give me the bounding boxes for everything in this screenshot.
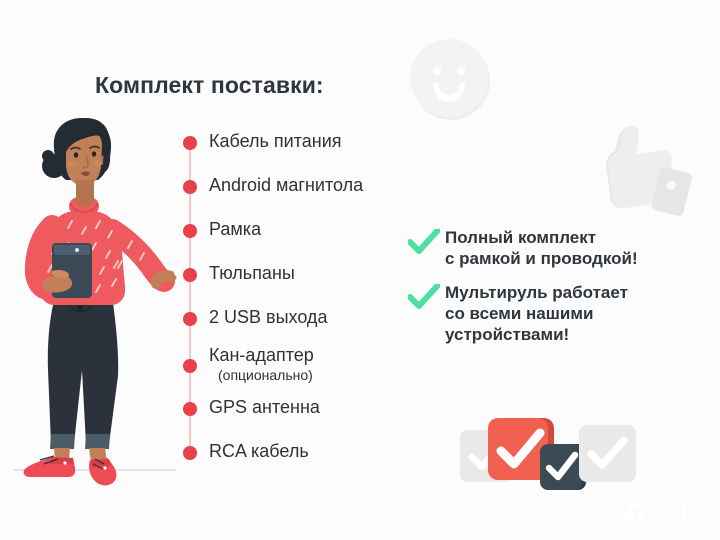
green-check-icon [408, 284, 440, 311]
feature-claims: Полный комплект с рамкой и проводкой! Му… [408, 227, 708, 358]
list-item-label: 2 USB выхода [209, 307, 327, 328]
bullet-dot [183, 446, 197, 460]
bullet-dot [183, 359, 197, 373]
thumbs-up-icon [578, 112, 696, 230]
list-item-label: GPS антенна [209, 397, 320, 418]
list-item-label: Кан-адаптер [209, 345, 314, 366]
list-item-label: Рамка [209, 219, 261, 240]
list-item-label: Android магнитола [209, 175, 363, 196]
bullet-dot [183, 268, 197, 282]
bullet-dot [183, 224, 197, 238]
bullet-dot [183, 136, 197, 150]
feature-item: Полный комплект с рамкой и проводкой! [408, 227, 708, 269]
bullet-dot [183, 180, 197, 194]
kit-list: Кабель питания Android магнитола Рамка Т… [176, 128, 426, 468]
promo-image-canvas: Комплект поставки: [0, 0, 720, 540]
bullet-dot [183, 402, 197, 416]
checkbox-cards-group [460, 410, 645, 498]
feature-text: Мультируль работает со всеми нашими устр… [445, 282, 708, 345]
avito-watermark: Avito [624, 498, 710, 524]
checkbox-card-gray-right [579, 425, 636, 482]
list-item-label: Тюльпаны [209, 263, 295, 284]
page-title: Комплект поставки: [95, 72, 324, 99]
feature-text: Полный комплект с рамкой и проводкой! [445, 227, 708, 269]
smiley-face-icon [404, 33, 496, 125]
avito-watermark-label: Avito [650, 502, 699, 524]
green-check-icon [408, 229, 440, 256]
woman-pointing-illustration [8, 108, 180, 500]
list-item-sublabel: (опционально) [218, 367, 313, 384]
feature-item: Мультируль работает со всеми нашими устр… [408, 282, 708, 345]
bullet-dot [183, 312, 197, 326]
list-item-label: RCA кабель [209, 441, 309, 462]
list-item-label: Кабель питания [209, 131, 342, 152]
